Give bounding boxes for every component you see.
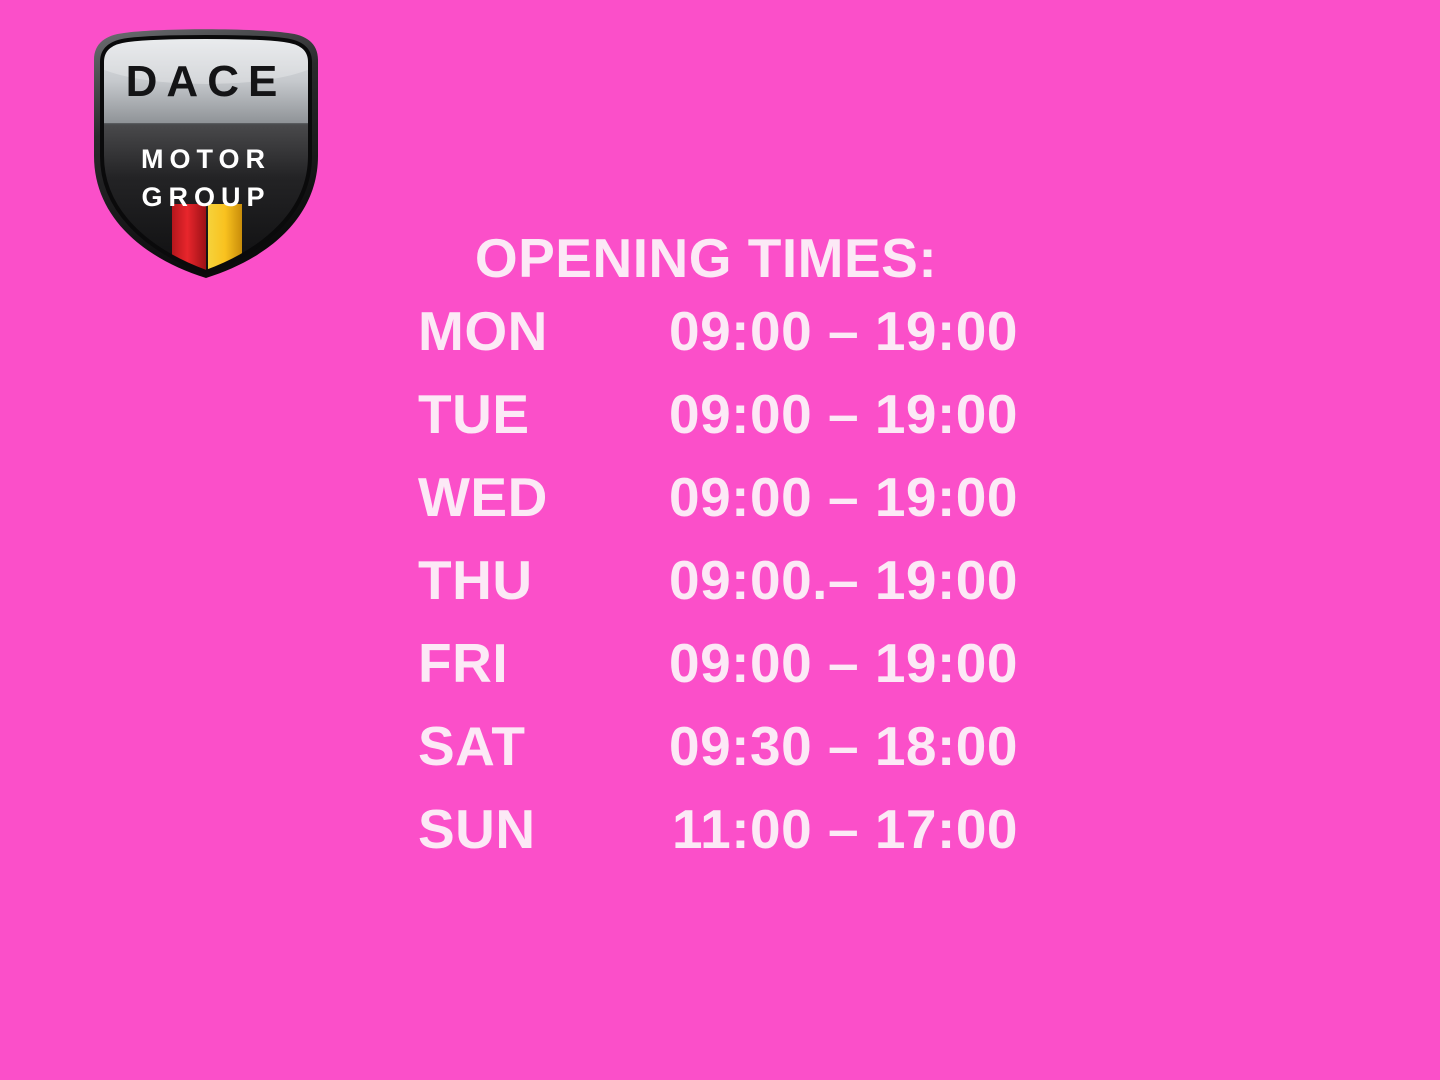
hours-value-thu: 09:00.– 19:00	[603, 548, 1018, 612]
day-label-sun: SUN	[418, 797, 603, 861]
dace-motor-group-logo: DACE MOTOR GROUP	[80, 28, 332, 278]
schedule-row-sat: SAT 09:30 – 18:00	[418, 714, 1018, 797]
hours-value-sun: 11:00 – 17:00	[603, 797, 1018, 861]
logo-text-motor: MOTOR	[141, 144, 271, 174]
hours-value-fri: 09:00 – 19:00	[603, 631, 1018, 695]
hours-value-tue: 09:00 – 19:00	[603, 382, 1018, 446]
schedule-row-mon: MON 09:00 – 19:00	[418, 299, 1018, 382]
schedule-row-sun: SUN 11:00 – 17:00	[418, 797, 1018, 880]
schedule-row-tue: TUE 09:00 – 19:00	[418, 382, 1018, 465]
day-label-thu: THU	[418, 548, 603, 612]
logo-text-dace: DACE	[126, 57, 287, 106]
opening-times-title: OPENING TIMES:	[418, 228, 1018, 289]
day-label-mon: MON	[418, 299, 603, 363]
hours-value-wed: 09:00 – 19:00	[603, 465, 1018, 529]
schedule-row-wed: WED 09:00 – 19:00	[418, 465, 1018, 548]
opening-times-poster: DACE MOTOR GROUP OPENING TIMES: MON 09:0…	[0, 0, 1440, 1080]
opening-times-block: OPENING TIMES: MON 09:00 – 19:00 TUE 09:…	[418, 228, 1018, 880]
logo-text-group: GROUP	[141, 182, 270, 212]
day-label-fri: FRI	[418, 631, 603, 695]
hours-value-sat: 09:30 – 18:00	[603, 714, 1018, 778]
day-label-wed: WED	[418, 465, 603, 529]
schedule-row-thu: THU 09:00.– 19:00	[418, 548, 1018, 631]
hours-value-mon: 09:00 – 19:00	[603, 299, 1018, 363]
day-label-tue: TUE	[418, 382, 603, 446]
day-label-sat: SAT	[418, 714, 603, 778]
schedule-row-fri: FRI 09:00 – 19:00	[418, 631, 1018, 714]
